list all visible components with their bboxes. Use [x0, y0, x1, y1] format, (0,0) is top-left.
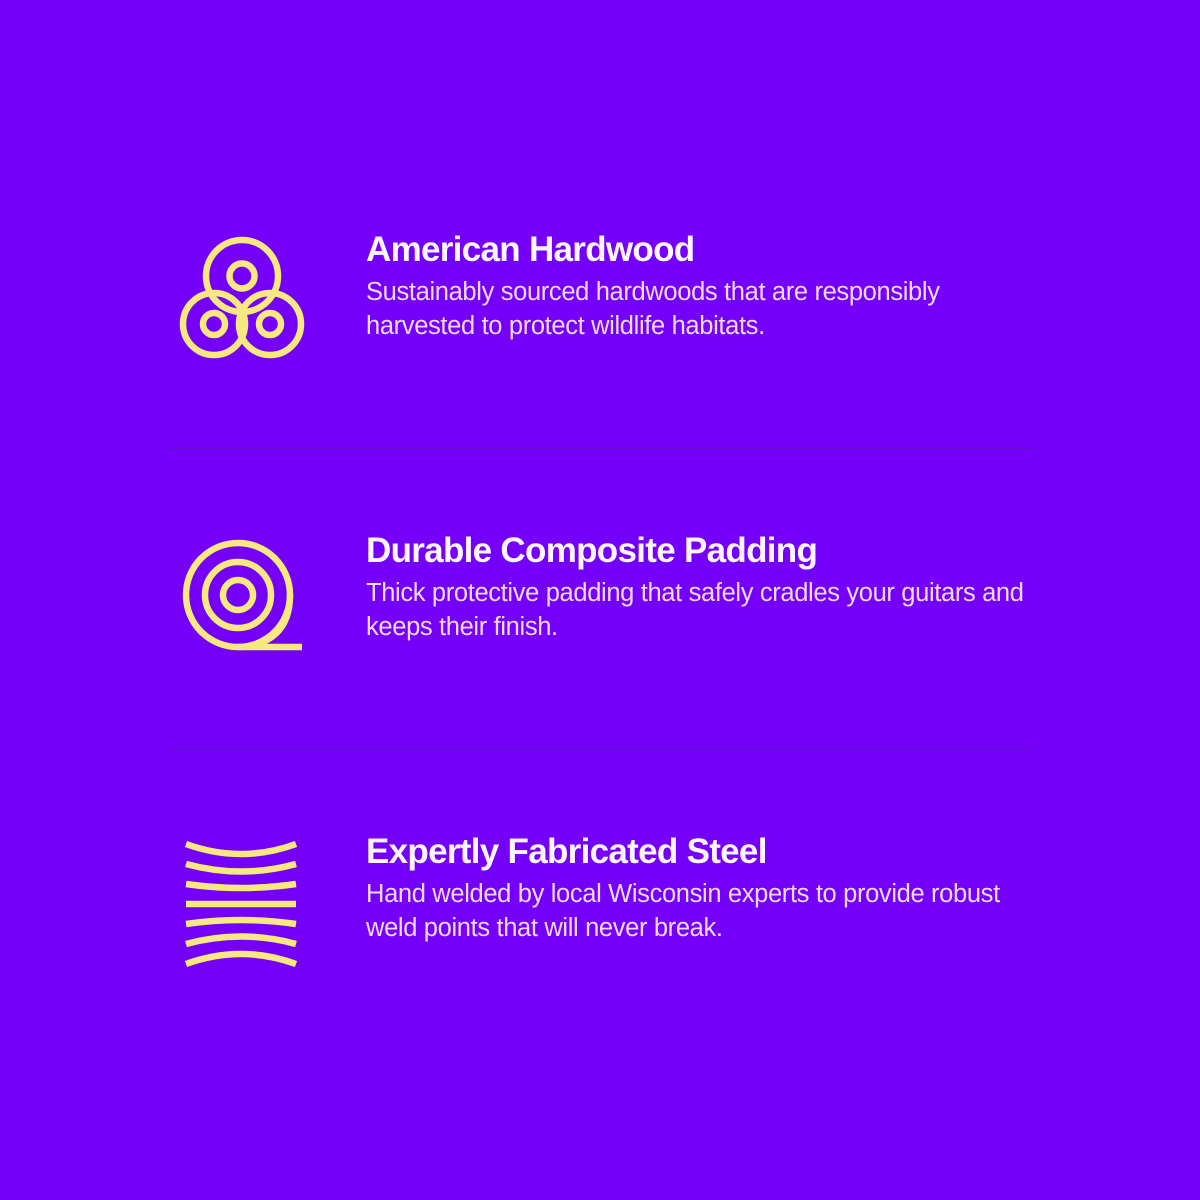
feature-item-durable-composite-padding: Durable Composite Padding Thick protecti…: [176, 525, 1040, 675]
feature-title: Expertly Fabricated Steel: [366, 832, 1040, 871]
layout-gap: [176, 750, 1040, 826]
layout-gap: [176, 374, 1040, 448]
layout-gap: [176, 449, 1040, 525]
feature-title: American Hardwood: [366, 230, 1040, 269]
stacked-logs-icon: [176, 224, 366, 374]
feature-description: Thick protective padding that safely cra…: [366, 576, 1040, 644]
padding-roll-icon: [176, 525, 366, 675]
feature-text-block: Durable Composite Padding Thick protecti…: [366, 525, 1040, 645]
feature-title: Durable Composite Padding: [366, 531, 1040, 570]
feature-item-american-hardwood: American Hardwood Sustainably sourced ha…: [176, 224, 1040, 374]
feature-text-block: Expertly Fabricated Steel Hand welded by…: [366, 826, 1040, 946]
feature-description: Hand welded by local Wisconsin experts t…: [366, 877, 1040, 945]
corrugated-steel-icon: [176, 826, 366, 976]
layout-gap: [176, 675, 1040, 749]
feature-description: Sustainably sourced hardwoods that are r…: [366, 275, 1040, 343]
feature-text-block: American Hardwood Sustainably sourced ha…: [366, 224, 1040, 344]
feature-item-expertly-fabricated-steel: Expertly Fabricated Steel Hand welded by…: [176, 826, 1040, 976]
features-panel: American Hardwood Sustainably sourced ha…: [0, 0, 1200, 1200]
